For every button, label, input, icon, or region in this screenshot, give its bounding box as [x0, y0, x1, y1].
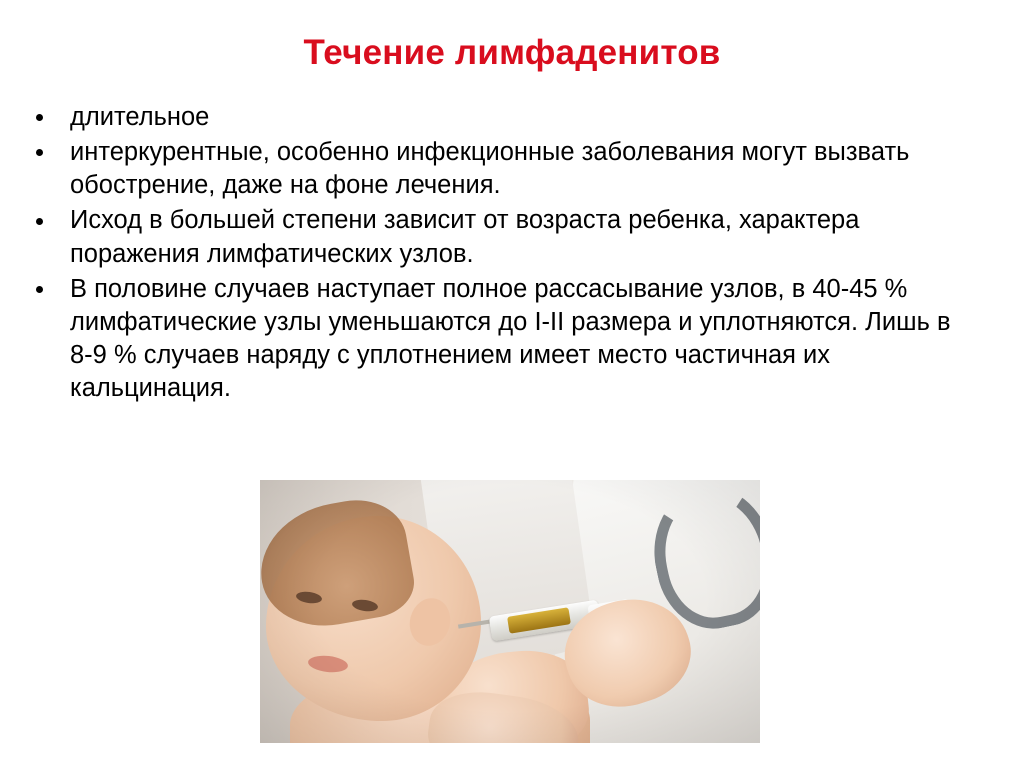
list-item-text: В половине случаев наступает полное расс…: [70, 275, 951, 402]
list-item: длительное: [18, 101, 978, 134]
list-item-text: Исход в большей степени зависит от возра…: [70, 206, 859, 267]
bullet-dot-icon: [36, 114, 43, 121]
bullet-list: длительное интеркурентные, особенно инфе…: [18, 101, 978, 407]
list-item-text: длительное: [70, 103, 209, 131]
photo-vignette: [260, 480, 760, 743]
list-item: Исход в большей степени зависит от возра…: [18, 204, 978, 270]
baby-vaccination-photo: [260, 480, 760, 743]
page-title: Течение лимфаденитов: [0, 34, 1024, 73]
bullet-dot-icon: [36, 286, 43, 293]
bullet-dot-icon: [36, 218, 43, 225]
slide: Течение лимфаденитов длительное интеркур…: [0, 0, 1024, 767]
bullet-dot-icon: [36, 149, 43, 156]
list-item: В половине случаев наступает полное расс…: [18, 273, 978, 406]
list-item-text: интеркурентные, особенно инфекционные за…: [70, 138, 909, 199]
list-item: интеркурентные, особенно инфекционные за…: [18, 136, 978, 202]
